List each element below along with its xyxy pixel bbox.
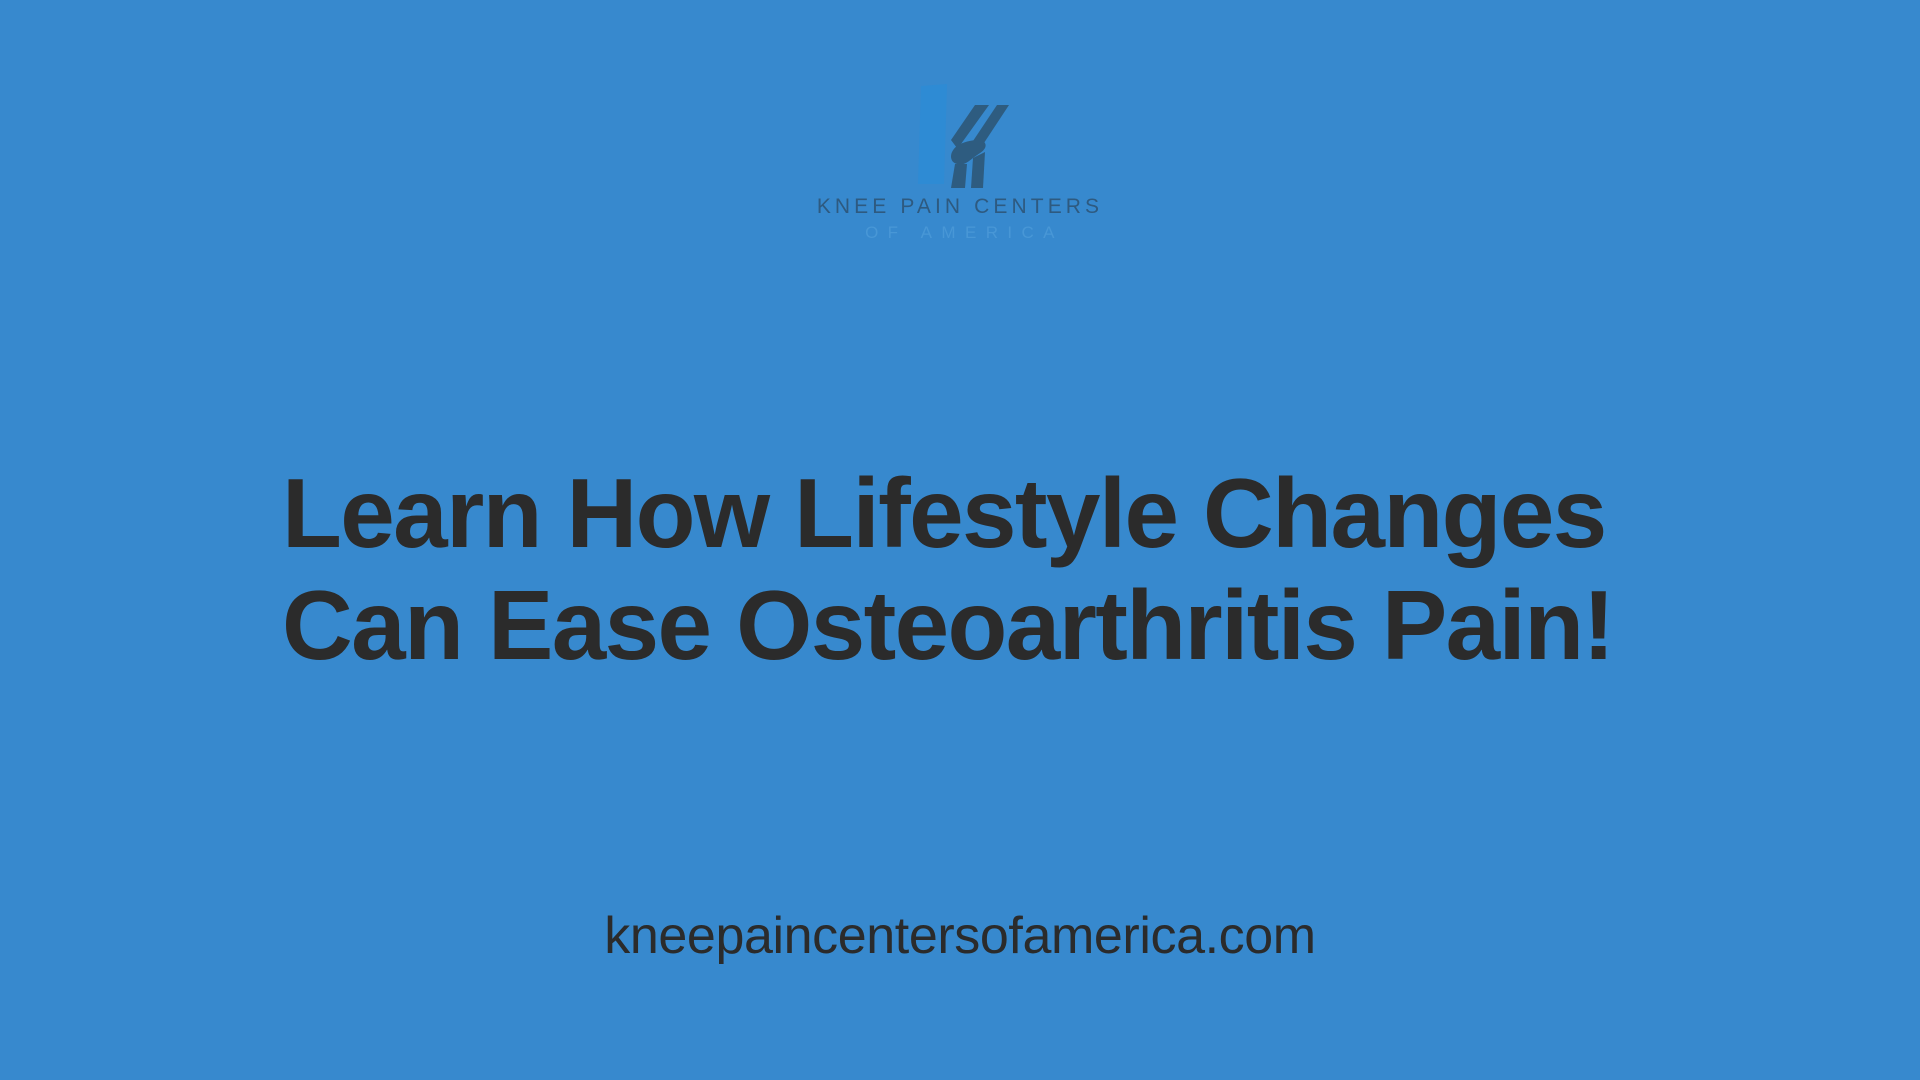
brand-wordmark: KNEE PAIN CENTERS — [817, 196, 1103, 217]
website-url[interactable]: kneepaincentersofamerica.com — [0, 910, 1920, 962]
brand-sub-wordmark: OF AMERICA — [856, 224, 1064, 241]
headline-line-1: Learn How Lifestyle Changes — [282, 464, 1648, 562]
headline-line-2: Can Ease Osteoarthritis Pain! — [282, 576, 1648, 674]
brand-logo-lockup[interactable]: KNEE PAIN CENTERS OF AMERICA — [0, 78, 1920, 241]
promo-card: KNEE PAIN CENTERS OF AMERICA Learn How L… — [0, 0, 1920, 1080]
knee-joint-k-logo-icon — [905, 78, 1015, 190]
page-title: Learn How Lifestyle Changes Can Ease Ost… — [282, 464, 1648, 674]
